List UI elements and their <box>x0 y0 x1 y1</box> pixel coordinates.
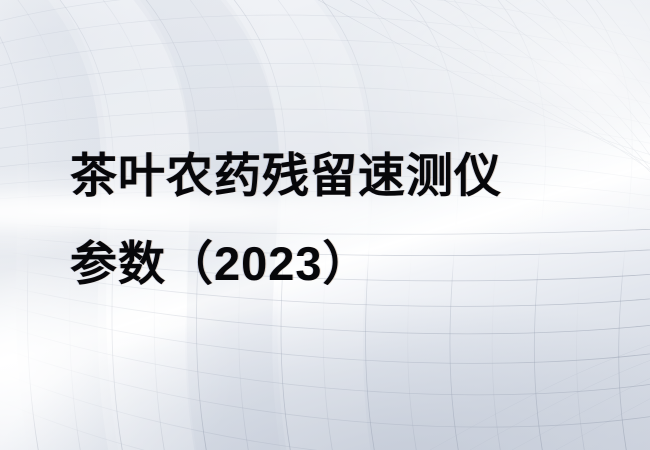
banner-title-line-2: 参数（2023） <box>70 220 610 308</box>
banner-title-line-1: 茶叶农药残留速测仪 <box>70 132 610 220</box>
banner-title-block: 茶叶农药残留速测仪 参数（2023） <box>70 132 610 308</box>
title-banner: 茶叶农药残留速测仪 参数（2023） <box>0 0 650 450</box>
